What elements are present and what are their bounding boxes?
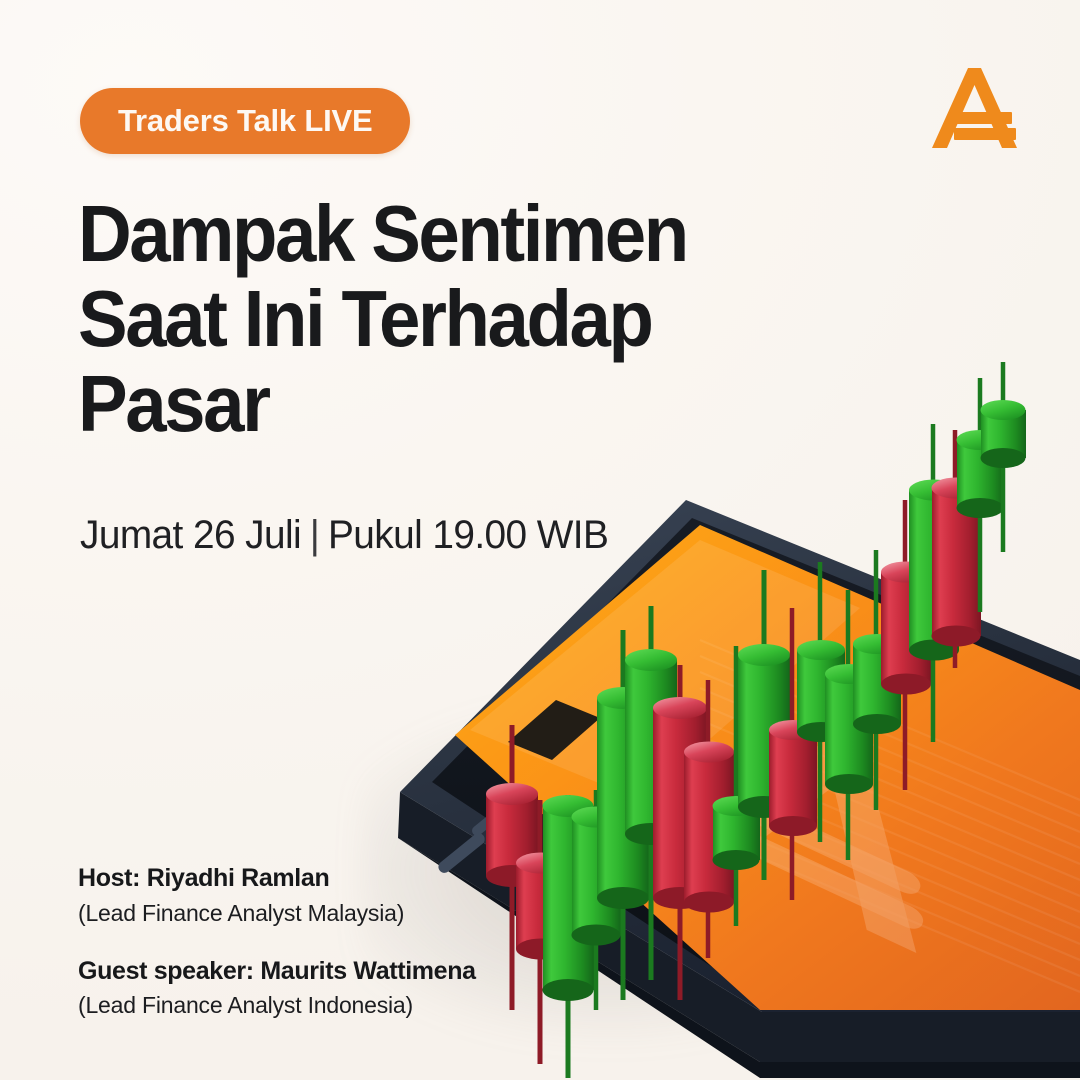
schedule-line: Jumat 26 Juli|Pukul 19.00 WIB xyxy=(80,513,608,558)
host-name: Host: Riyadhi Ramlan xyxy=(78,862,476,895)
host-role: (Lead Finance Analyst Malaysia) xyxy=(78,898,476,929)
page-title: Dampak Sentimen Saat Ini Terhadap Pasar xyxy=(78,192,858,446)
schedule-date: Jumat 26 Juli xyxy=(80,513,301,557)
axi-a-logo-icon xyxy=(924,56,1028,160)
credits-block: Host: Riyadhi Ramlan (Lead Finance Analy… xyxy=(78,862,476,1021)
schedule-time: Pukul 19.00 WIB xyxy=(328,513,608,557)
traders-talk-live-badge[interactable]: Traders Talk LIVE xyxy=(80,88,410,154)
headline-line-1: Dampak Sentimen xyxy=(78,192,803,277)
headline-line-3: Pasar xyxy=(78,362,803,447)
headline-line-2: Saat Ini Terhadap xyxy=(78,277,803,362)
poster-canvas: Traders Talk LIVE Dampak Sentimen Saat I… xyxy=(0,0,1080,1080)
guest-role: (Lead Finance Analyst Indonesia) xyxy=(78,990,476,1021)
guest-credit: Guest speaker: Maurits Wattimena (Lead F… xyxy=(78,955,476,1022)
guest-name: Guest speaker: Maurits Wattimena xyxy=(78,955,476,988)
host-credit: Host: Riyadhi Ramlan (Lead Finance Analy… xyxy=(78,862,476,929)
schedule-separator: | xyxy=(310,513,320,557)
badge-label: Traders Talk LIVE xyxy=(118,103,372,139)
